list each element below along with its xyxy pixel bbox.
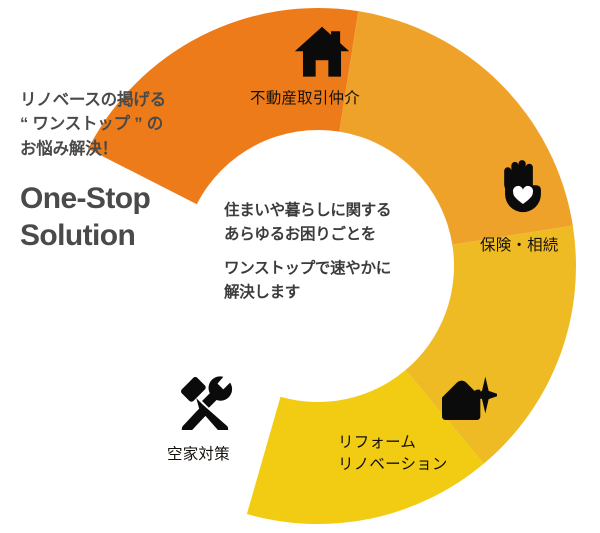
- center-line-3: ワンストップで速やかに: [224, 257, 444, 281]
- house-icon: [293, 24, 351, 87]
- hammer-wrench-icon: [173, 372, 235, 435]
- page-title: One-Stop Solution: [20, 181, 230, 254]
- segment-label-line: 空家対策: [167, 444, 230, 466]
- segment-label-line: 不動産取引仲介: [250, 88, 360, 110]
- page-title-line-1: One-Stop: [20, 181, 230, 218]
- segment-label-vacant-house: 空家対策: [167, 444, 230, 466]
- page-title-line-2: Solution: [20, 218, 230, 255]
- segment-label-reform-renovation: リフォーム リノベーション: [338, 432, 448, 476]
- lead-line-3: お悩み解決！: [20, 137, 230, 161]
- segment-label-line: リフォーム: [338, 432, 448, 454]
- house-sparkle-icon: [437, 375, 497, 430]
- segment-label-line: 保険・相続: [480, 235, 559, 257]
- lead-line-2: “ ワンストップ ” の: [20, 112, 230, 136]
- segment-label-insurance-inheritance: 保険・相続: [480, 235, 559, 257]
- paragraph-spacer: [224, 246, 444, 257]
- left-headline-block: リノベースの掲げる “ ワンストップ ” の お悩み解決！ One-Stop S…: [20, 88, 230, 254]
- center-line-2: あらゆるお困りごとを: [224, 223, 444, 247]
- center-line-1: 住まいや暮らしに関する: [224, 199, 444, 223]
- segment-label-line: リノベーション: [338, 454, 448, 476]
- hand-heart-icon: [497, 158, 549, 221]
- lead-line-1: リノベースの掲げる: [20, 88, 230, 112]
- segment-label-real-estate: 不動産取引仲介: [250, 88, 360, 110]
- infographic-canvas: リノベースの掲げる “ ワンストップ ” の お悩み解決！ One-Stop S…: [0, 0, 600, 533]
- center-description: 住まいや暮らしに関する あらゆるお困りごとを ワンストップで速やかに 解決します: [224, 199, 444, 304]
- center-line-4: 解決します: [224, 281, 444, 305]
